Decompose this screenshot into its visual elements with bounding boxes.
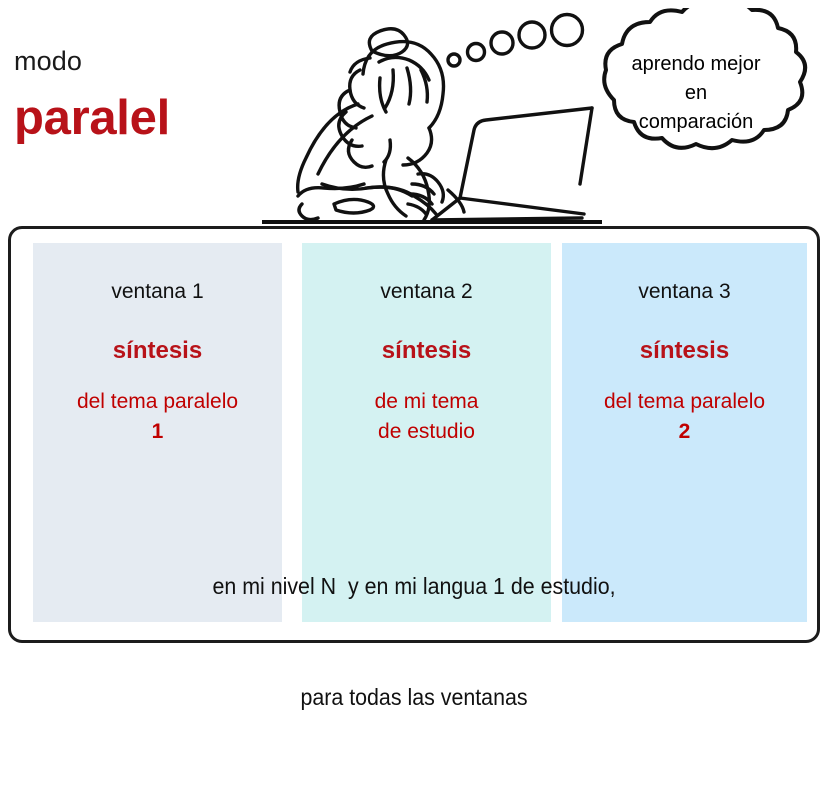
window-column-2-subtitle: de mi tema de estudio <box>302 387 551 447</box>
parallel-mode-panel: ventana 1 síntesis del tema paralelo 1 v… <box>8 226 820 643</box>
page-title: paralel <box>14 94 170 143</box>
thought-cloud-icon: aprendo mejor en comparación <box>566 8 828 174</box>
person-at-laptop-icon <box>262 8 602 230</box>
panel-caption: en mi nivel N y en mi langua 1 de estudi… <box>39 493 789 791</box>
window-column-2-synthesis: síntesis <box>302 337 551 365</box>
header: modo paralel <box>0 0 834 226</box>
window-columns: ventana 1 síntesis del tema paralelo 1 v… <box>11 229 817 640</box>
window-column-3-subtitle: del tema paralelo 2 <box>562 387 807 447</box>
header-eyebrow: modo <box>14 48 82 75</box>
panel-caption-line-1: en mi nivel N y en mi langua 1 de estudi… <box>39 568 789 605</box>
panel-caption-line-2: para todas las ventanas <box>39 679 789 716</box>
window-column-3-subtitle-text: del tema paralelo <box>604 390 765 413</box>
window-column-1-subtitle: del tema paralelo 1 <box>33 387 282 447</box>
window-column-2-subtitle-text: de mi tema de estudio <box>375 390 479 443</box>
window-column-1-emphasis: 1 <box>152 420 164 443</box>
thought-bubble-text: aprendo mejor en comparación <box>596 50 796 137</box>
window-column-3-emphasis: 2 <box>679 420 691 443</box>
window-column-1-synthesis: síntesis <box>33 337 282 365</box>
window-column-3-title: ventana 3 <box>562 280 807 304</box>
window-column-1-title: ventana 1 <box>33 280 282 304</box>
window-column-1-subtitle-text: del tema paralelo <box>77 390 238 413</box>
window-column-3-synthesis: síntesis <box>562 337 807 365</box>
window-column-2-title: ventana 2 <box>302 280 551 304</box>
